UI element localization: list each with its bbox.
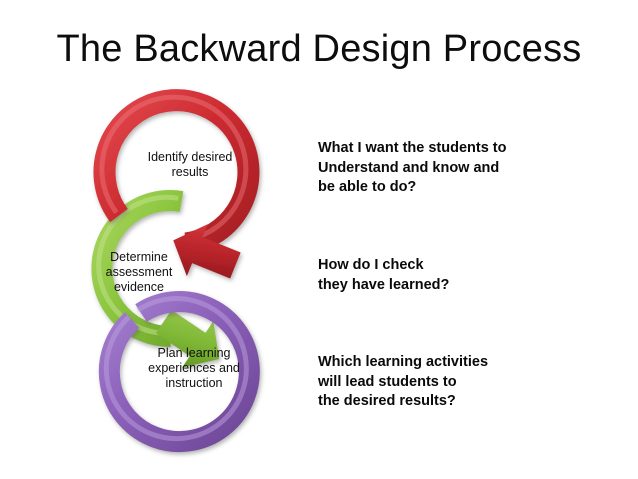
- question-text-plan: Which learning activities will lead stud…: [318, 353, 578, 412]
- stage-label-determine: Determine assessment evidence: [80, 250, 198, 295]
- page-title: The Backward Design Process: [0, 28, 638, 71]
- question-text-identify: What I want the students to Understand a…: [318, 139, 578, 198]
- backward-design-cycle-diagram: Identify desired results Determine asses…: [62, 88, 302, 448]
- stage-label-identify: Identify desired results: [126, 150, 254, 180]
- slide-canvas: The Backward Design Process: [0, 0, 638, 479]
- stage-label-plan: Plan learning experiences and instructio…: [124, 346, 264, 391]
- question-text-determine: How do I check they have learned?: [318, 256, 578, 295]
